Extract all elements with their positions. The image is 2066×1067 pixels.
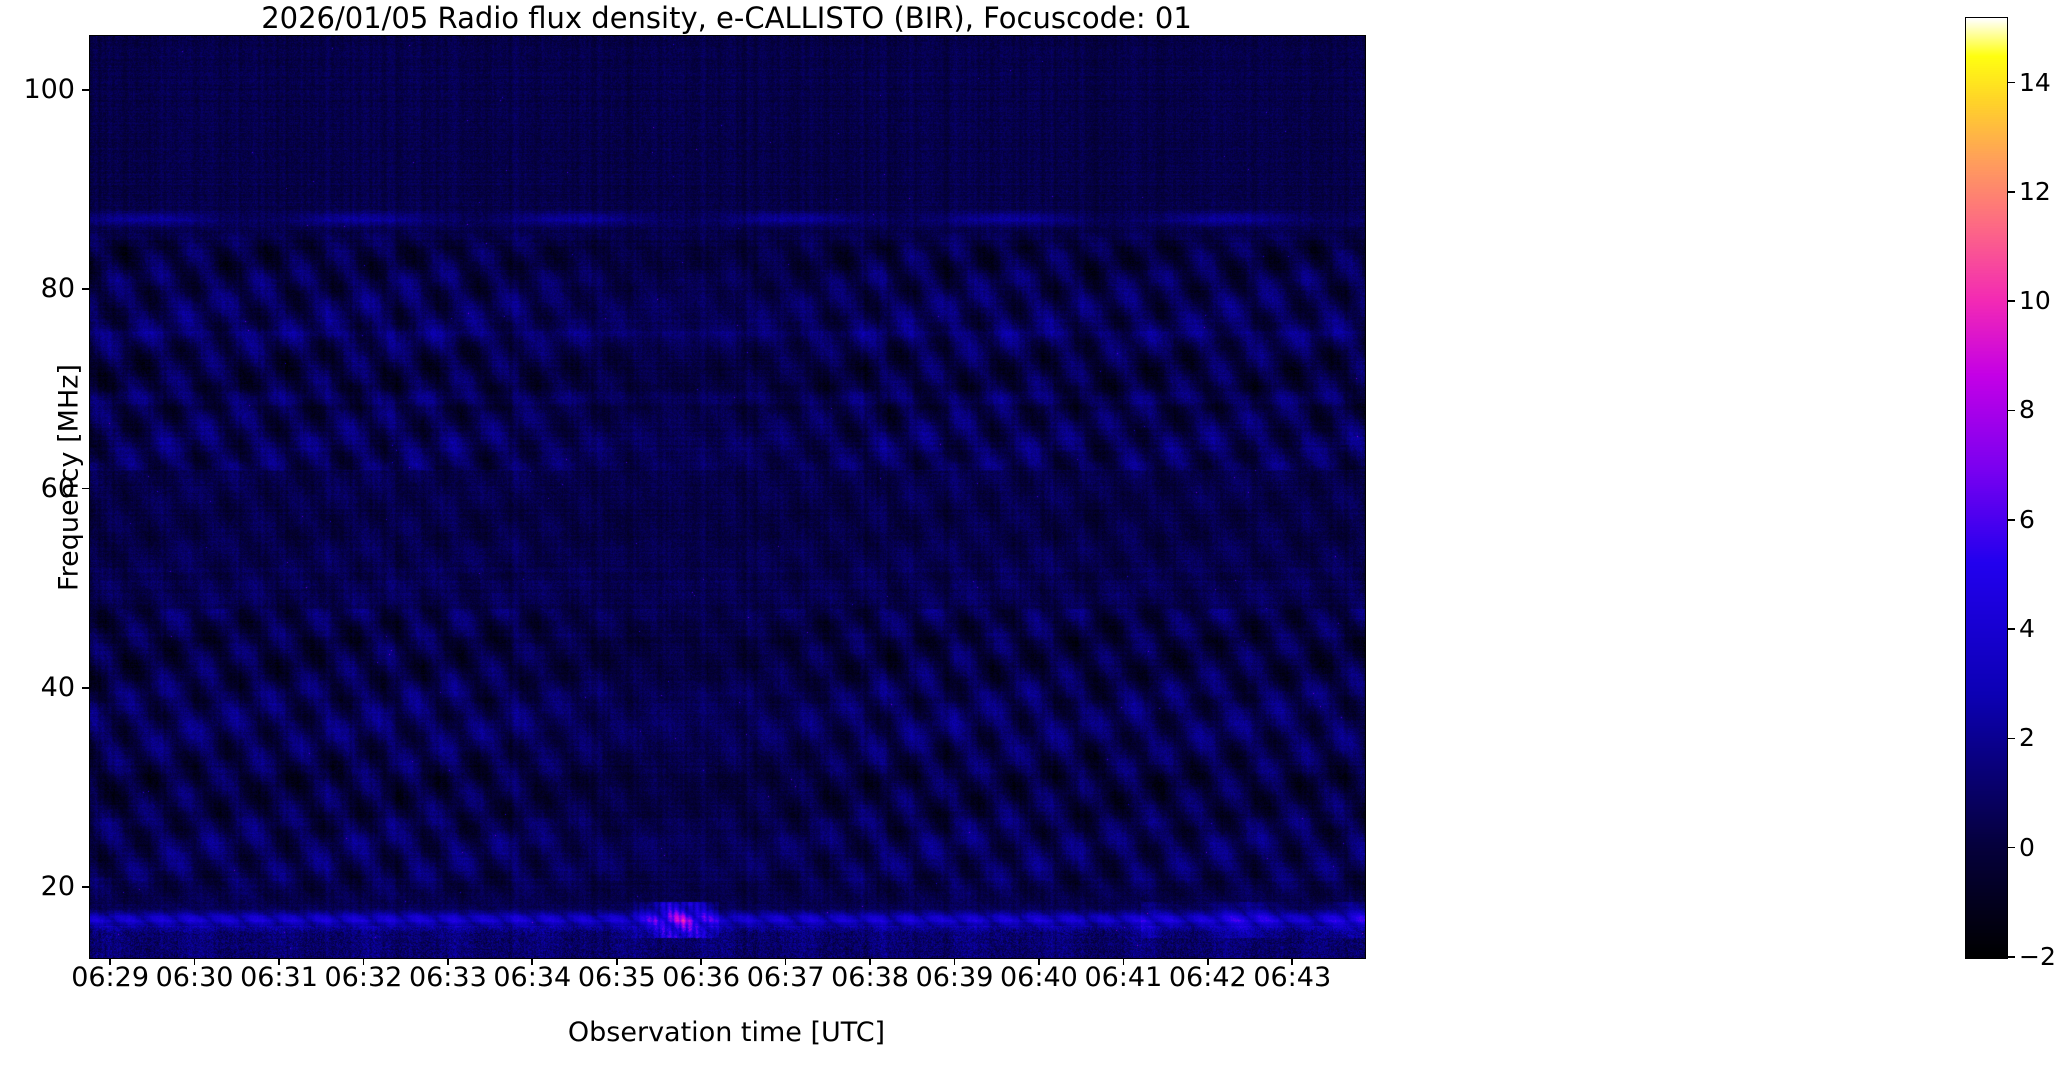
colorbar-tick-label: 2 — [2019, 725, 2035, 750]
y-axis-tick-mark — [82, 488, 89, 490]
y-axis-tick-label: 20 — [0, 873, 75, 900]
colorbar[interactable] — [1965, 17, 2008, 959]
colorbar-tick-label: 0 — [2019, 835, 2035, 860]
x-axis-tick-label: 06:43 — [1212, 963, 1372, 992]
y-axis-tick-mark — [82, 89, 89, 91]
y-axis-tick-label: 100 — [0, 76, 75, 103]
figure-canvas: 2026/01/05 Radio flux density, e-CALLIST… — [0, 0, 2066, 1067]
colorbar-tick-mark — [2008, 628, 2015, 630]
colorbar-tick-label: −2 — [2019, 944, 2056, 969]
y-axis-tick-label: 80 — [0, 275, 75, 302]
colorbar-tick-mark — [2008, 519, 2015, 521]
colorbar-gradient — [1966, 18, 2007, 958]
y-axis-tick-label: 40 — [0, 674, 75, 701]
spectrogram-axes[interactable] — [89, 35, 1366, 959]
colorbar-tick-label: 10 — [2019, 288, 2051, 313]
colorbar-tick-mark — [2008, 300, 2015, 302]
y-axis-tick-mark — [82, 687, 89, 689]
y-axis-tick-mark — [82, 886, 89, 888]
colorbar-tick-mark — [2008, 82, 2015, 84]
colorbar-tick-label: 4 — [2019, 616, 2035, 641]
y-axis-tick-label: 60 — [0, 475, 75, 502]
colorbar-tick-mark — [2008, 956, 2015, 958]
y-axis-tick-mark — [82, 288, 89, 290]
colorbar-tick-mark — [2008, 847, 2015, 849]
page-title: 2026/01/05 Radio flux density, e-CALLIST… — [89, 2, 1364, 34]
colorbar-tick-label: 6 — [2019, 507, 2035, 532]
x-axis-label: Observation time [UTC] — [89, 1017, 1364, 1048]
colorbar-tick-label: 12 — [2019, 179, 2051, 204]
colorbar-tick-mark — [2008, 410, 2015, 412]
colorbar-tick-mark — [2008, 191, 2015, 193]
spectrogram-image — [90, 36, 1365, 958]
colorbar-tick-mark — [2008, 738, 2015, 740]
colorbar-tick-label: 8 — [2019, 397, 2035, 422]
colorbar-tick-label: 14 — [2019, 70, 2051, 95]
